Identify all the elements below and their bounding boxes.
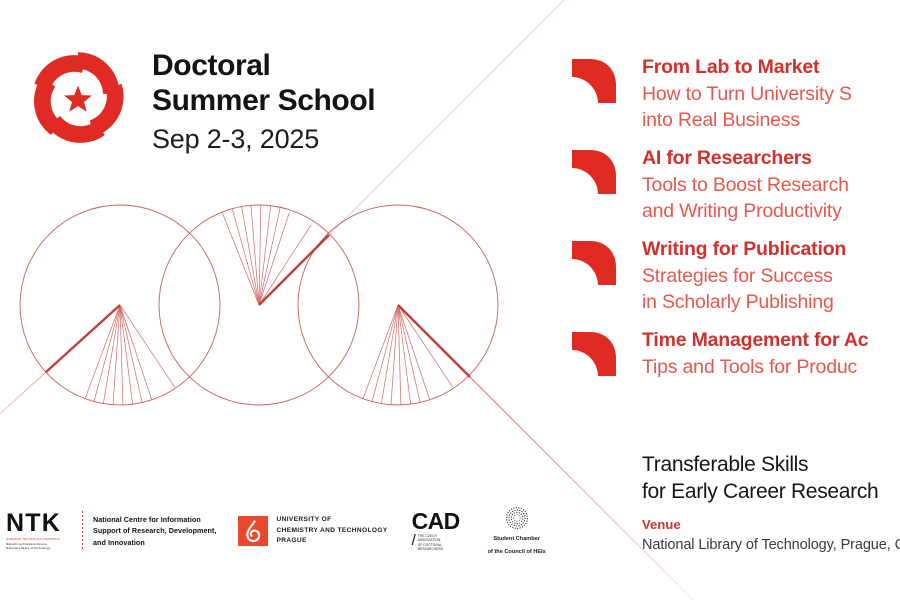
programme-item[interactable]: Time Management for Ac Tips and Tools fo… [570, 328, 900, 401]
uct-flask-mark-icon [238, 516, 268, 546]
programme-item-subline2: in Scholarly Publishing [642, 289, 846, 315]
ntk-desc-line1: National Centre for Information [93, 514, 216, 525]
decoration-fan-right [363, 305, 453, 405]
programme-item-subline1: Tips and Tools for Produc [642, 354, 868, 380]
cad-micro-block: / THE CZECH ASSOCIATION OF DOCTORAL RESE… [412, 534, 444, 552]
programme-item-subline2: into Real Business [642, 107, 852, 133]
programme-item-subline1: How to Turn University S [642, 81, 852, 107]
decoration-fan-middle [222, 205, 311, 305]
programme-item-subline1: Strategies for Success [642, 263, 846, 289]
programme-list: From Lab to Market How to Turn Universit… [570, 55, 900, 414]
partner-logos: NTK NÁRODNÍ TECHNICKÁ KNIHOVNA Národní t… [6, 505, 546, 557]
programme-item-title: AI for Researchers [642, 146, 849, 172]
ntk-wordmark-stack: NTK NÁRODNÍ TECHNICKÁ KNIHOVNA Národní t… [6, 512, 72, 550]
pinwheel-spiral-logo-icon [26, 46, 130, 150]
partner-logo-uct[interactable]: UNIVERSITY OF CHEMISTRY AND TECHNOLOGY P… [238, 515, 387, 547]
uct-desc-line2: CHEMISTRY AND TECHNOLOGY [276, 526, 387, 537]
ntk-desc-line2: Support of Research, Development, [93, 525, 216, 536]
cad-micro-line4: RESEARCHERS [418, 547, 443, 552]
sc-text-line2: of the Council of HEIs [488, 548, 546, 557]
cad-wordmark: CAD [412, 510, 460, 533]
audience-line2: for Early Career Research [642, 479, 878, 506]
student-chamber-caption: Student Chamber of the Council of HEIs [488, 531, 546, 557]
quarter-arc-bullet-icon [570, 328, 642, 378]
programme-item-subline2: and Writing Productivity [642, 198, 849, 224]
decoration-fan-left [85, 305, 175, 405]
ntk-micro-dark-line2: National Library of Technology [6, 546, 72, 550]
programme-item-subline1: Tools to Boost Research [642, 172, 849, 198]
venue-value: National Library of Technology, Prague, … [642, 535, 900, 556]
uct-description: UNIVERSITY OF CHEMISTRY AND TECHNOLOGY P… [276, 515, 387, 547]
quarter-arc-bullet-icon [570, 55, 642, 105]
partner-logo-student-chamber[interactable]: Student Chamber of the Council of HEIs [488, 505, 546, 557]
uct-desc-line3: PRAGUE [276, 536, 387, 547]
partner-logo-ntk[interactable]: NTK NÁRODNÍ TECHNICKÁ KNIHOVNA Národní t… [6, 511, 216, 551]
decoration-circles [20, 205, 498, 405]
programme-item-copy: Time Management for Ac Tips and Tools fo… [642, 328, 868, 380]
page-title-line2: Summer School [152, 83, 375, 118]
audience-line1: Transferable Skills [642, 452, 878, 479]
venue-block: Venue National Library of Technology, Pr… [642, 516, 900, 556]
decoration-ray-right-bold [398, 305, 470, 377]
radial-dots-sunburst-icon [504, 505, 530, 531]
quarter-arc-bullet-icon [570, 146, 642, 196]
brand-text-block: Doctoral Summer School Sep 2-3, 2025 [152, 42, 375, 157]
ntk-wordmark: NTK [6, 512, 72, 536]
ntk-description: National Centre for Information Support … [93, 514, 216, 547]
ntk-divider [82, 511, 83, 551]
programme-item-title: From Lab to Market [642, 55, 852, 81]
audience-block: Transferable Skills for Early Career Res… [642, 452, 878, 506]
programme-item[interactable]: Writing for Publication Strategies for S… [570, 237, 900, 315]
venue-label: Venue [642, 516, 900, 534]
ntk-desc-line3: and Innovation [93, 537, 216, 548]
uct-desc-line1: UNIVERSITY OF [276, 515, 387, 526]
programme-item-title: Writing for Publication [642, 237, 846, 263]
brand-block: Doctoral Summer School Sep 2-3, 2025 [26, 42, 375, 157]
programme-item-copy: Writing for Publication Strategies for S… [642, 237, 846, 315]
programme-item-title: Time Management for Ac [642, 328, 868, 354]
event-date: Sep 2-3, 2025 [152, 123, 375, 157]
sc-text-line1: Student Chamber [488, 535, 546, 544]
decoration-ray-left-tail [0, 372, 46, 450]
programme-item-copy: AI for Researchers Tools to Boost Resear… [642, 146, 849, 224]
programme-item-copy: From Lab to Market How to Turn Universit… [642, 55, 852, 133]
programme-item[interactable]: From Lab to Market How to Turn Universit… [570, 55, 900, 133]
programme-item[interactable]: AI for Researchers Tools to Boost Resear… [570, 146, 900, 224]
poster-canvas: Doctoral Summer School Sep 2-3, 2025 Fro… [0, 0, 900, 600]
decoration-ray-middle-bold [259, 235, 329, 305]
quarter-arc-bullet-icon [570, 237, 642, 287]
decoration-ray-left-bold [46, 305, 120, 372]
page-title-line1: Doctoral [152, 48, 375, 83]
partner-logo-cad[interactable]: CAD / THE CZECH ASSOCIATION OF DOCTORAL … [412, 510, 460, 552]
cad-slash-icon: / [412, 533, 416, 548]
